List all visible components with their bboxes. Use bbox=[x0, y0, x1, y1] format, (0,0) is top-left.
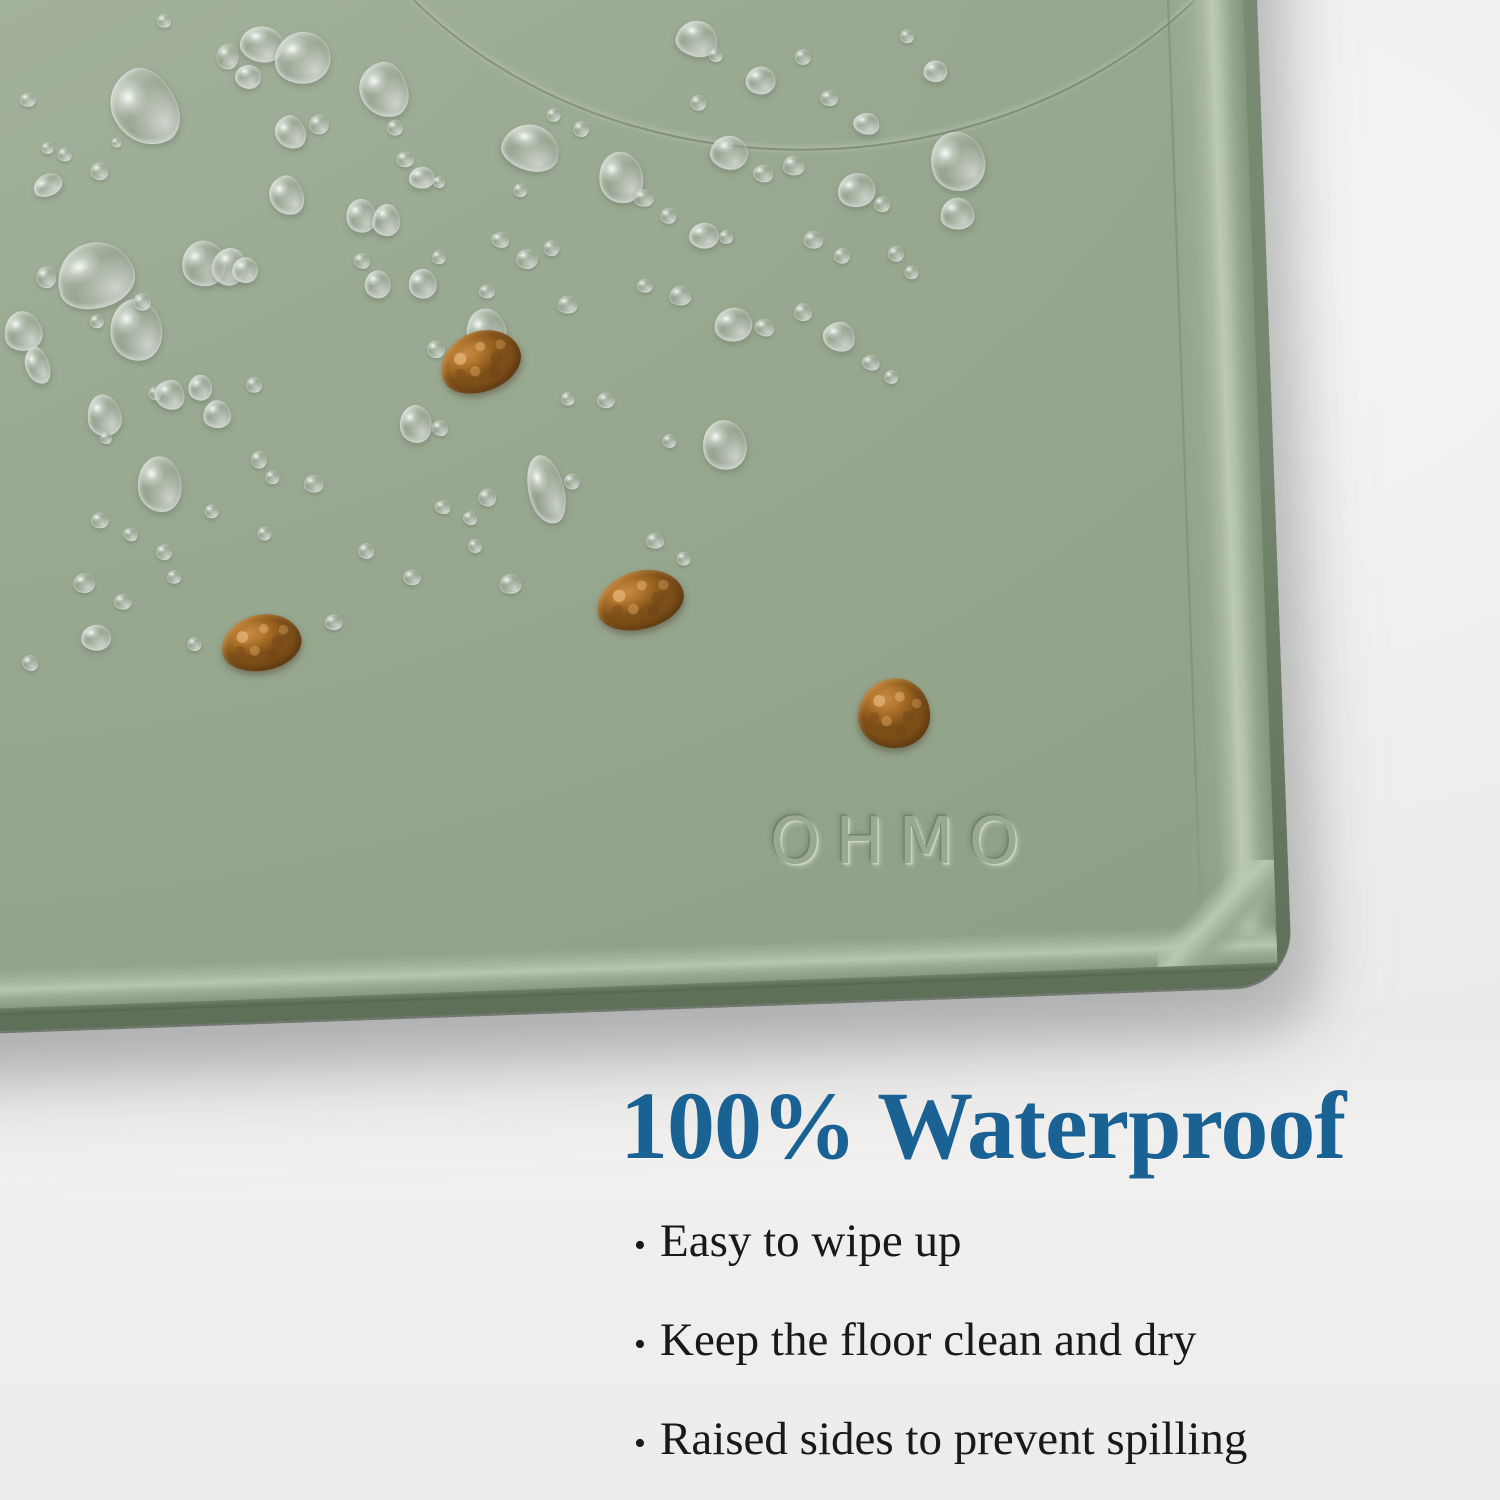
water-droplet bbox=[434, 500, 450, 515]
water-droplet bbox=[564, 473, 581, 490]
water-droplet bbox=[387, 119, 404, 136]
water-droplet bbox=[745, 66, 776, 95]
water-droplet bbox=[123, 527, 137, 541]
water-droplet bbox=[265, 470, 279, 484]
water-droplet bbox=[303, 474, 324, 493]
water-droplet bbox=[515, 249, 538, 270]
water-droplet bbox=[403, 569, 422, 586]
water-droplet bbox=[371, 203, 402, 238]
water-droplet bbox=[690, 94, 707, 111]
water-droplet bbox=[884, 370, 898, 384]
marketing-copy-block: 100% Waterproof •Easy to wipe up•Keep th… bbox=[620, 1078, 1450, 1463]
feature-bullet-label: Easy to wipe up bbox=[660, 1218, 962, 1265]
water-droplet bbox=[660, 208, 677, 225]
water-droplet bbox=[364, 270, 391, 299]
water-droplet bbox=[114, 593, 133, 610]
water-droplet bbox=[794, 49, 811, 66]
water-droplet bbox=[41, 142, 53, 154]
water-droplet bbox=[58, 147, 72, 161]
water-droplet bbox=[820, 90, 839, 107]
water-droplet bbox=[396, 151, 415, 168]
dog-kibble-piece bbox=[432, 319, 530, 403]
water-droplet bbox=[923, 60, 948, 83]
water-droplet bbox=[133, 292, 152, 311]
feature-bullet-item: •Raised sides to prevent spilling bbox=[634, 1416, 1450, 1463]
water-droplet bbox=[754, 318, 775, 337]
water-droplet bbox=[698, 416, 751, 474]
water-droplet bbox=[431, 250, 445, 264]
feature-bullet-list: •Easy to wipe up•Keep the floor clean an… bbox=[634, 1218, 1450, 1463]
bullet-dot-icon: • bbox=[634, 1229, 660, 1263]
water-droplet bbox=[546, 108, 560, 122]
water-droplet bbox=[354, 58, 413, 123]
water-droplet bbox=[491, 232, 510, 249]
water-droplet bbox=[90, 162, 109, 181]
water-droplet bbox=[463, 511, 477, 525]
water-droplet bbox=[669, 285, 692, 306]
water-droplet bbox=[834, 170, 878, 211]
water-droplet bbox=[111, 137, 121, 147]
dog-kibble-piece bbox=[217, 608, 306, 677]
water-droplet bbox=[232, 257, 259, 284]
water-droplet bbox=[900, 29, 914, 43]
bullet-dot-icon: • bbox=[634, 1328, 660, 1362]
water-droplet bbox=[157, 14, 171, 28]
water-droplet bbox=[822, 321, 855, 352]
water-droplet bbox=[156, 544, 173, 561]
water-droplet bbox=[216, 43, 239, 70]
water-droplet bbox=[204, 504, 218, 518]
water-droplet bbox=[557, 295, 578, 314]
water-droplet bbox=[81, 624, 112, 651]
water-droplet bbox=[398, 403, 434, 444]
water-droplet bbox=[100, 432, 112, 444]
water-droplet bbox=[874, 196, 891, 213]
water-droplet bbox=[676, 551, 690, 565]
water-droplet bbox=[861, 354, 880, 371]
water-droplet bbox=[358, 543, 375, 560]
water-droplet bbox=[30, 169, 67, 202]
water-droplet bbox=[633, 188, 654, 207]
feature-bullet-label: Raised sides to prevent spilling bbox=[660, 1416, 1247, 1463]
feature-bullet-item: •Easy to wipe up bbox=[634, 1218, 1450, 1265]
water-droplet bbox=[794, 303, 813, 322]
water-droplet bbox=[637, 279, 653, 294]
water-droplet bbox=[22, 655, 39, 672]
water-droplet bbox=[135, 454, 185, 514]
dog-kibble-piece bbox=[590, 561, 689, 639]
water-droplet bbox=[689, 222, 720, 249]
product-image-canvas: OHMO 100% Waterproof •Easy to wipe up•Ke… bbox=[0, 0, 1500, 1500]
water-droplet bbox=[73, 573, 96, 594]
water-droplet bbox=[513, 183, 527, 197]
water-droplet bbox=[20, 92, 36, 107]
mat-lip-corner-bevel bbox=[1154, 860, 1278, 968]
water-droplet bbox=[91, 512, 110, 529]
water-droplet bbox=[573, 121, 590, 138]
water-droplet bbox=[888, 246, 905, 263]
water-droplet bbox=[646, 532, 665, 549]
water-droplet bbox=[479, 284, 495, 299]
dog-kibble-piece bbox=[856, 676, 933, 751]
feature-bullet-item: •Keep the floor clean and dry bbox=[634, 1317, 1450, 1364]
water-droplet bbox=[433, 176, 445, 188]
water-droplet bbox=[257, 526, 271, 540]
water-droplet bbox=[782, 155, 805, 176]
water-droplet bbox=[271, 112, 309, 153]
bowl-recess-groove bbox=[282, 0, 1277, 169]
water-droplet bbox=[904, 265, 918, 279]
water-droplet bbox=[408, 166, 435, 189]
water-droplet bbox=[427, 340, 446, 359]
water-droplet bbox=[324, 614, 343, 631]
water-droplet bbox=[940, 197, 975, 230]
water-droplet bbox=[154, 379, 185, 410]
mat-top-surface bbox=[0, 0, 1277, 1022]
water-droplet bbox=[90, 314, 104, 328]
water-droplet bbox=[803, 230, 824, 249]
water-droplet bbox=[597, 392, 616, 409]
water-droplet bbox=[432, 420, 449, 437]
brand-logo-embossed: OHMO bbox=[770, 805, 1034, 879]
water-droplet bbox=[246, 377, 263, 394]
water-droplet bbox=[478, 488, 497, 507]
water-droplet bbox=[251, 450, 268, 469]
water-droplet bbox=[167, 570, 181, 584]
water-droplet bbox=[309, 114, 330, 135]
water-droplet bbox=[712, 305, 754, 344]
pet-feeding-mat bbox=[0, 0, 1292, 1044]
water-droplet bbox=[561, 391, 575, 405]
water-droplet bbox=[266, 172, 308, 218]
water-droplet bbox=[753, 164, 774, 183]
water-droplet bbox=[708, 48, 722, 62]
water-droplet bbox=[187, 637, 201, 651]
water-droplet bbox=[499, 573, 522, 594]
water-droplet bbox=[353, 253, 370, 270]
water-droplet bbox=[719, 230, 733, 244]
water-droplet bbox=[36, 266, 57, 289]
water-droplet bbox=[468, 539, 482, 553]
water-droplet bbox=[662, 434, 676, 448]
feature-bullet-label: Keep the floor clean and dry bbox=[660, 1317, 1196, 1364]
bullet-dot-icon: • bbox=[634, 1427, 660, 1461]
water-droplet bbox=[543, 240, 560, 257]
water-droplet bbox=[203, 400, 232, 429]
water-droplet bbox=[834, 247, 851, 264]
water-droplet bbox=[520, 451, 572, 528]
water-droplet bbox=[188, 374, 213, 401]
headline-text: 100% Waterproof bbox=[620, 1078, 1450, 1174]
water-droplet bbox=[407, 267, 439, 301]
water-droplet bbox=[233, 63, 263, 91]
water-droplet bbox=[497, 118, 565, 178]
